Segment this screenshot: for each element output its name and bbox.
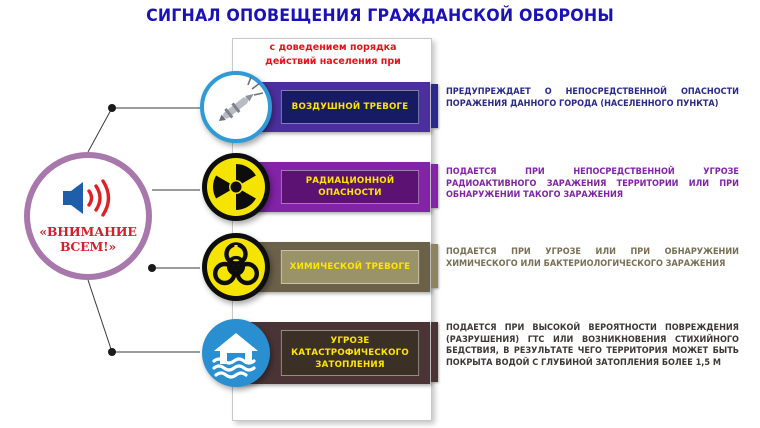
radiation-icon (200, 151, 272, 223)
attention-label: «ВНИМАНИЕ ВСЕМ!» (30, 224, 146, 254)
row-accent-bar (431, 322, 438, 382)
signal-label: РАДИАЦИОННОЙ ОПАСНОСТИ (281, 170, 419, 204)
row-accent-bar (431, 244, 438, 288)
missile-icon (200, 71, 272, 143)
signal-description: ПРЕДУПРЕЖДАЕТ О НЕПОСРЕДСТВЕННОЙ ОПАСНОС… (446, 86, 739, 109)
signal-label: ХИМИЧЕСКОЙ ТРЕВОГЕ (281, 250, 419, 284)
row-accent-bar (431, 164, 438, 208)
loudspeaker-icon (59, 178, 117, 218)
signal-description: ПОДАЕТСЯ ПРИ УГРОЗЕ ИЛИ ПРИ ОБНАРУЖЕНИИ … (446, 246, 739, 269)
signal-description: ПОДАЕТСЯ ПРИ ВЫСОКОЙ ВЕРОЯТНОСТИ ПОВРЕЖД… (446, 322, 739, 368)
flood-icon (200, 317, 272, 389)
signal-description: ПОДАЕТСЯ ПРИ НЕПОСРЕДСТВЕННОЙ УГРОЗЕ РАД… (446, 166, 739, 201)
row-accent-bar (431, 84, 438, 128)
page-title: СИГНАЛ ОПОВЕЩЕНИЯ ГРАЖДАНСКОЙ ОБОРОНЫ (27, 6, 734, 26)
signal-label: ВОЗДУШНОЙ ТРЕВОГЕ (281, 90, 419, 124)
biohazard-icon (200, 231, 272, 303)
panel-header-text: с доведением порядка действий населения … (243, 41, 424, 69)
attention-circle: «ВНИМАНИЕ ВСЕМ!» (24, 152, 152, 280)
signal-label: УГРОЗЕ КАТАСТРОФИЧЕСКОГО ЗАТОПЛЕНИЯ (281, 330, 419, 376)
